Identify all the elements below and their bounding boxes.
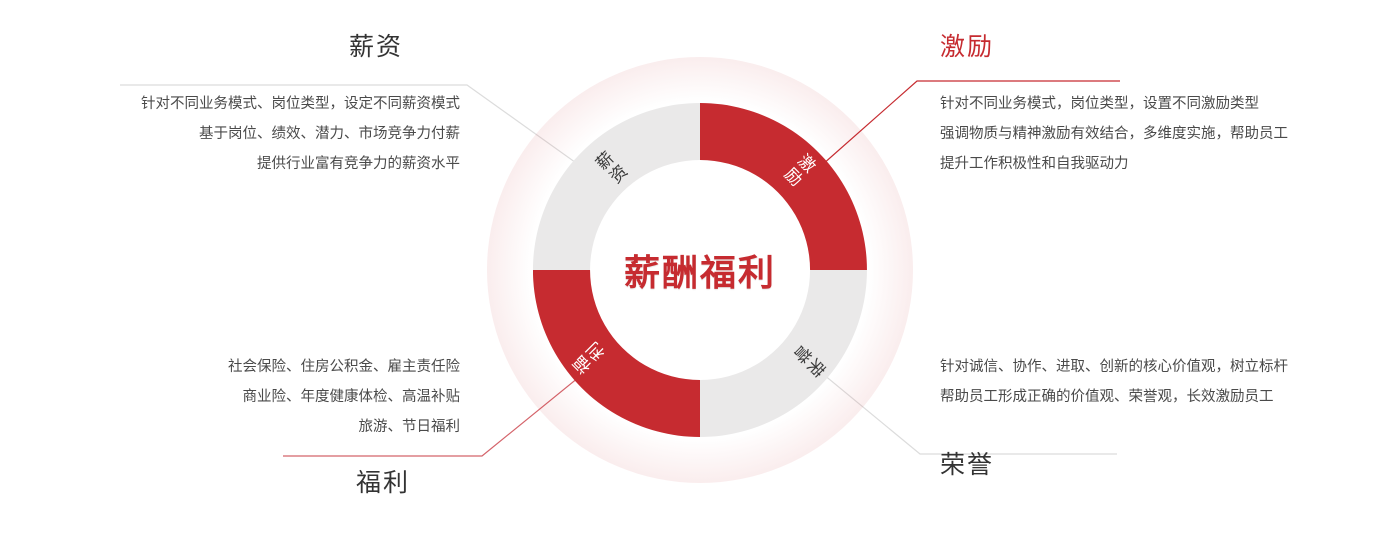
section-welfare[interactable]: 社会保险、住房公积金、雇主责任险 商业险、年度健康体检、高温补贴 旅游、节日福利… [100,352,460,495]
body-line: 帮助员工形成正确的价值观、荣誉观，长效激励员工 [940,382,1300,412]
body-line: 商业险、年度健康体检、高温补贴 [100,382,460,412]
section-salary[interactable]: 薪资 针对不同业务模式、岗位类型，设定不同薪资模式 基于岗位、绩效、潜力、市场竞… [100,34,460,179]
donut-chart: 薪酬福利 [533,103,867,437]
body-line: 强调物质与精神激励有效结合，多维度实施，帮助员工 [940,119,1300,149]
body-line: 针对诚信、协作、进取、创新的核心价值观，树立标杆 [940,352,1300,382]
section-incentive[interactable]: 激励 针对不同业务模式，岗位类型，设置不同激励类型 强调物质与精神激励有效结合，… [940,34,1300,179]
section-title-welfare: 福利 [100,470,460,495]
body-line: 针对不同业务模式、岗位类型，设定不同薪资模式 [100,89,460,119]
body-line: 提升工作积极性和自我驱动力 [940,149,1300,179]
section-title-incentive: 激励 [940,34,1300,59]
body-line: 旅游、节日福利 [100,412,460,442]
body-line: 社会保险、住房公积金、雇主责任险 [100,352,460,382]
section-body-honor: 针对诚信、协作、进取、创新的核心价值观，树立标杆 帮助员工形成正确的价值观、荣誉… [940,352,1300,412]
body-line: 提供行业富有竞争力的薪资水平 [100,149,460,179]
center-title: 薪酬福利 [533,103,867,437]
infographic-canvas: 薪酬福利 薪资 激励 荣誉 福利 薪资 针对不同业务模式、岗位类型，设定不同薪资… [0,0,1400,540]
section-body-salary: 针对不同业务模式、岗位类型，设定不同薪资模式 基于岗位、绩效、潜力、市场竞争力付… [100,89,460,179]
body-line: 基于岗位、绩效、潜力、市场竞争力付薪 [100,119,460,149]
body-line: 针对不同业务模式，岗位类型，设置不同激励类型 [940,89,1300,119]
section-body-incentive: 针对不同业务模式，岗位类型，设置不同激励类型 强调物质与精神激励有效结合，多维度… [940,89,1300,179]
section-honor[interactable]: 针对诚信、协作、进取、创新的核心价值观，树立标杆 帮助员工形成正确的价值观、荣誉… [940,352,1300,477]
section-body-welfare: 社会保险、住房公积金、雇主责任险 商业险、年度健康体检、高温补贴 旅游、节日福利 [100,352,460,442]
section-title-honor: 荣誉 [940,452,1300,477]
section-title-salary: 薪资 [100,34,460,59]
